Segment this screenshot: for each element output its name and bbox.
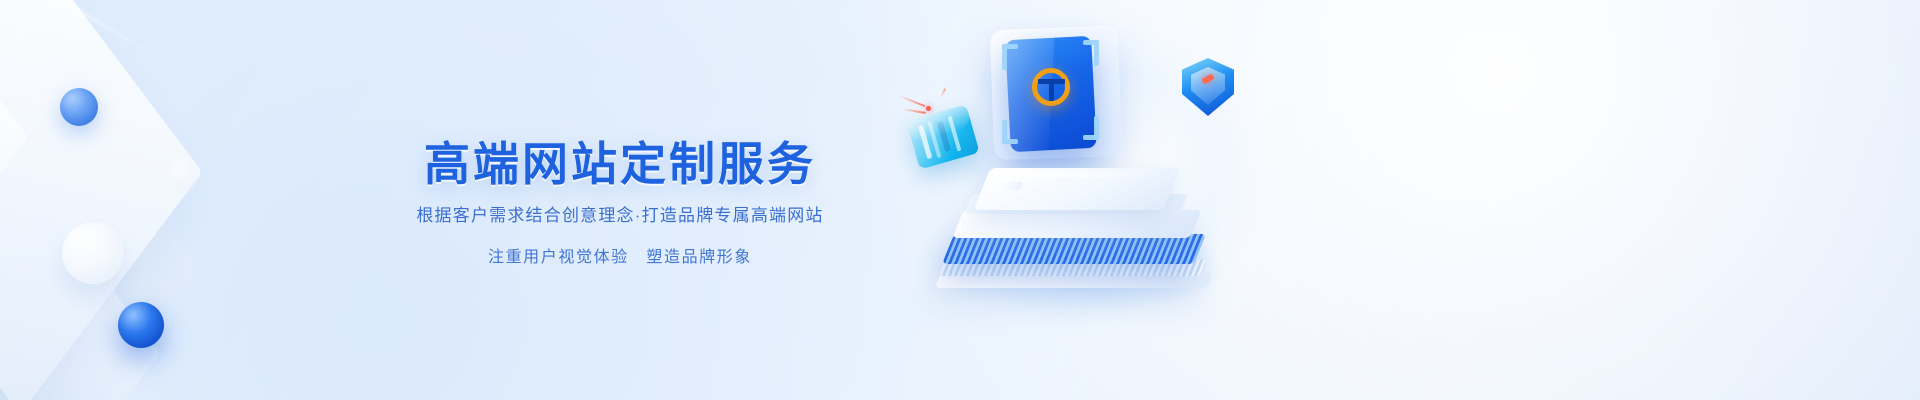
hero-illustration (880, 0, 1300, 400)
t-logo-bar-vertical (1049, 79, 1054, 101)
spark-ray-icon (902, 108, 926, 114)
spark-ray-icon (940, 88, 946, 98)
server-top-highlight (993, 172, 1145, 178)
subtitle-line-2: 注重用户视觉体验 塑造品牌形象 (488, 250, 752, 266)
server-layer-fins-blue (942, 234, 1206, 264)
corner-bracket-icon (1002, 139, 1018, 144)
spark-icon (926, 106, 931, 111)
hero-banner: 高端网站定制服务 根据客户需求结合创意理念·打造品牌专属高端网站 注重用户视觉体… (0, 0, 1920, 400)
cyan-card-icon (906, 104, 979, 169)
spark-ray-icon (899, 95, 926, 107)
page-title: 高端网站定制服务 (424, 141, 816, 187)
subtitle-line-1: 根据客户需求结合创意理念·打造品牌专属高端网站 (416, 207, 823, 224)
server-layer-body (952, 210, 1201, 238)
corner-bracket-icon (1083, 40, 1099, 45)
layered-server-icon (938, 168, 1238, 308)
shield-icon (1182, 58, 1234, 116)
corner-bracket-icon (1083, 135, 1099, 140)
server-top-knob (998, 182, 1023, 190)
corner-bracket-icon (1002, 44, 1018, 49)
